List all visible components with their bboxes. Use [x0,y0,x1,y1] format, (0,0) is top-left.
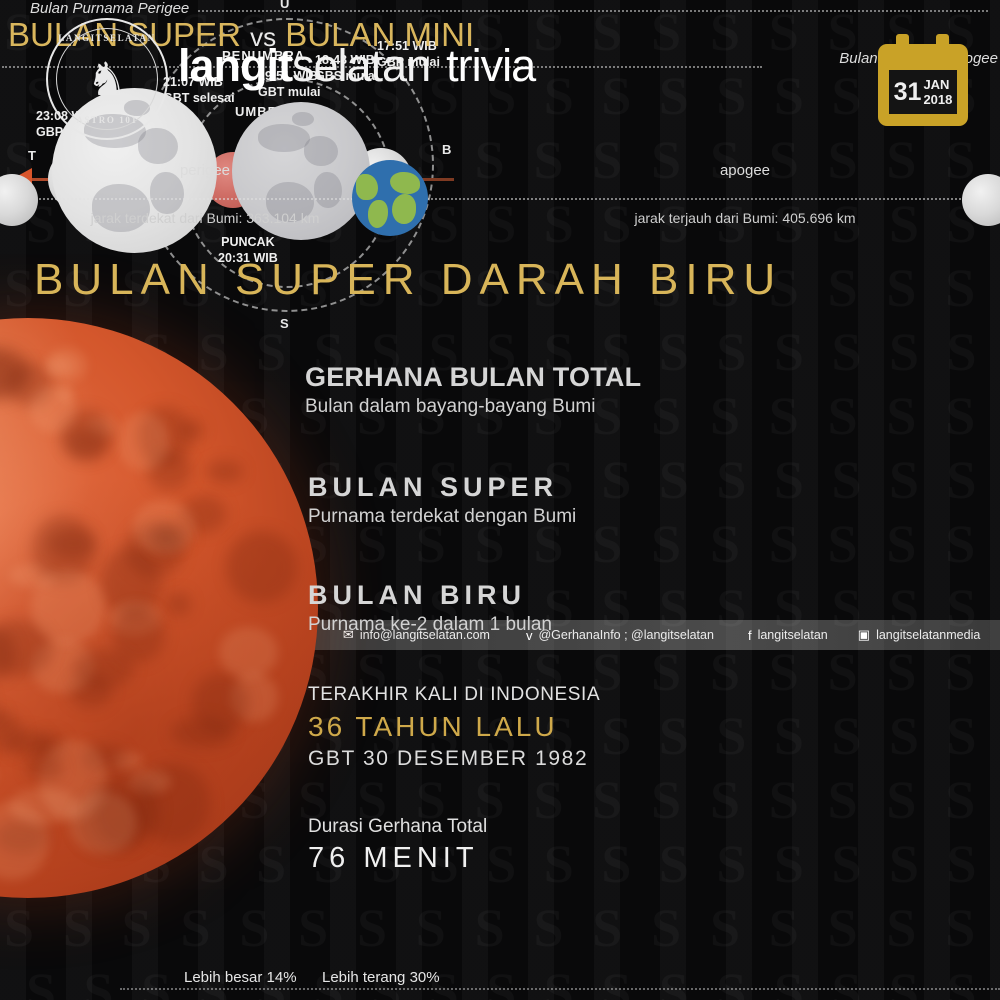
seal-arc-bottom-label: ASTRO 101 [57,115,157,125]
last-occurrence-years: 36 TAHUN LALU [308,711,600,743]
last-occurrence-label: TERAKHIR KALI DI INDONESIA [308,684,600,706]
contact-instagram-text: langitselatanmedia [876,628,980,642]
moon-icon-perigee [0,174,38,226]
perigee-label: perigee [100,162,310,179]
note-perigee: Bulan Purnama Perigee [30,0,189,17]
feature-bulan-super: BULAN SUPER Purnama terdekat dengan Bumi [308,472,576,528]
calendar-month: JAN [923,77,952,92]
contact-twitter[interactable]: ᴠ @GerhanaInfo ; @langitselatan [526,628,714,643]
apogee-distance: jarak terjauh dari Bumi: 405.696 km [580,210,910,226]
langitselatan-seal-logo: LANGITSELATAN ♞ ASTRO 101 [46,18,168,140]
moon-icon-apogee [962,174,1000,226]
contact-twitter-text: @GerhanaInfo ; @langitselatan [538,628,713,642]
brand-title: langitselatantrivia [178,40,535,92]
seal-arc-top-label: LANGITSELATAN [57,33,157,43]
caption-brightness: Lebih terang 30% [322,969,440,986]
last-occurrence-block: TERAKHIR KALI DI INDONESIA 36 TAHUN LALU… [308,684,600,771]
calendar-body: 31 JAN 2018 [878,44,968,126]
brand-light: selatan [292,40,430,91]
calendar-icon: 31 JAN 2018 [878,34,968,126]
perigee-apogee-band: perigee jarak terdekat dari Bumi: 363.10… [0,152,1000,248]
feature-subtitle: Bulan dalam bayang-bayang Bumi [305,396,641,418]
calendar-year: 2018 [923,92,952,107]
calendar-day: 31 [894,80,922,105]
instagram-icon: ▣ [858,627,870,643]
duration-label: Durasi Gerhana Total [308,816,487,838]
last-occurrence-date: GBT 30 DESEMBER 1982 [308,747,600,771]
contact-facebook[interactable]: f langitselatan [748,628,828,643]
feature-title: BULAN BIRU [308,580,552,611]
caption-dotted-rule [120,988,1000,990]
orbit-dotted-line [0,198,1000,200]
feature-subtitle: Purnama terdekat dengan Bumi [308,506,576,528]
infographic-page: SSSSSSSSSSSSSSSSSSSSSSSSSSSSSSSSSSSSSSSS… [0,0,1000,1000]
horse-rider-icon: ♞ [86,56,127,102]
dotted-rule-top [198,10,988,12]
contact-facebook-text: langitselatan [758,628,828,642]
calendar-month-year: JAN 2018 [923,77,952,107]
brand-bold: langit [178,40,292,91]
brand-trivia: trivia [446,40,535,91]
feature-gerhana-bulan-total: GERHANA BULAN TOTAL Bulan dalam bayang-b… [305,362,641,418]
facebook-icon: f [748,628,752,643]
calendar-date-screen: 31 JAN 2018 [889,70,957,114]
perigee-distance: jarak terdekat dari Bumi: 363.104 km [60,210,350,226]
feature-title: BULAN SUPER [308,472,576,503]
duration-value: 76 MENIT [308,842,487,875]
feature-bulan-biru: BULAN BIRU Purnama ke-2 dalam 1 bulan [308,580,552,636]
axis-south-label: S [280,316,289,331]
apogee-label: apogee [640,162,850,179]
feature-subtitle: Purnama ke-2 dalam 1 bulan [308,614,552,636]
caption-size: Lebih besar 14% [184,969,297,986]
page-title: BULAN SUPER DARAH BIRU [34,255,782,305]
feature-title: GERHANA BULAN TOTAL [305,362,641,393]
contact-instagram[interactable]: ▣ langitselatanmedia [858,627,981,643]
duration-block: Durasi Gerhana Total 76 MENIT [308,816,487,875]
earth-globe-icon [352,160,428,236]
